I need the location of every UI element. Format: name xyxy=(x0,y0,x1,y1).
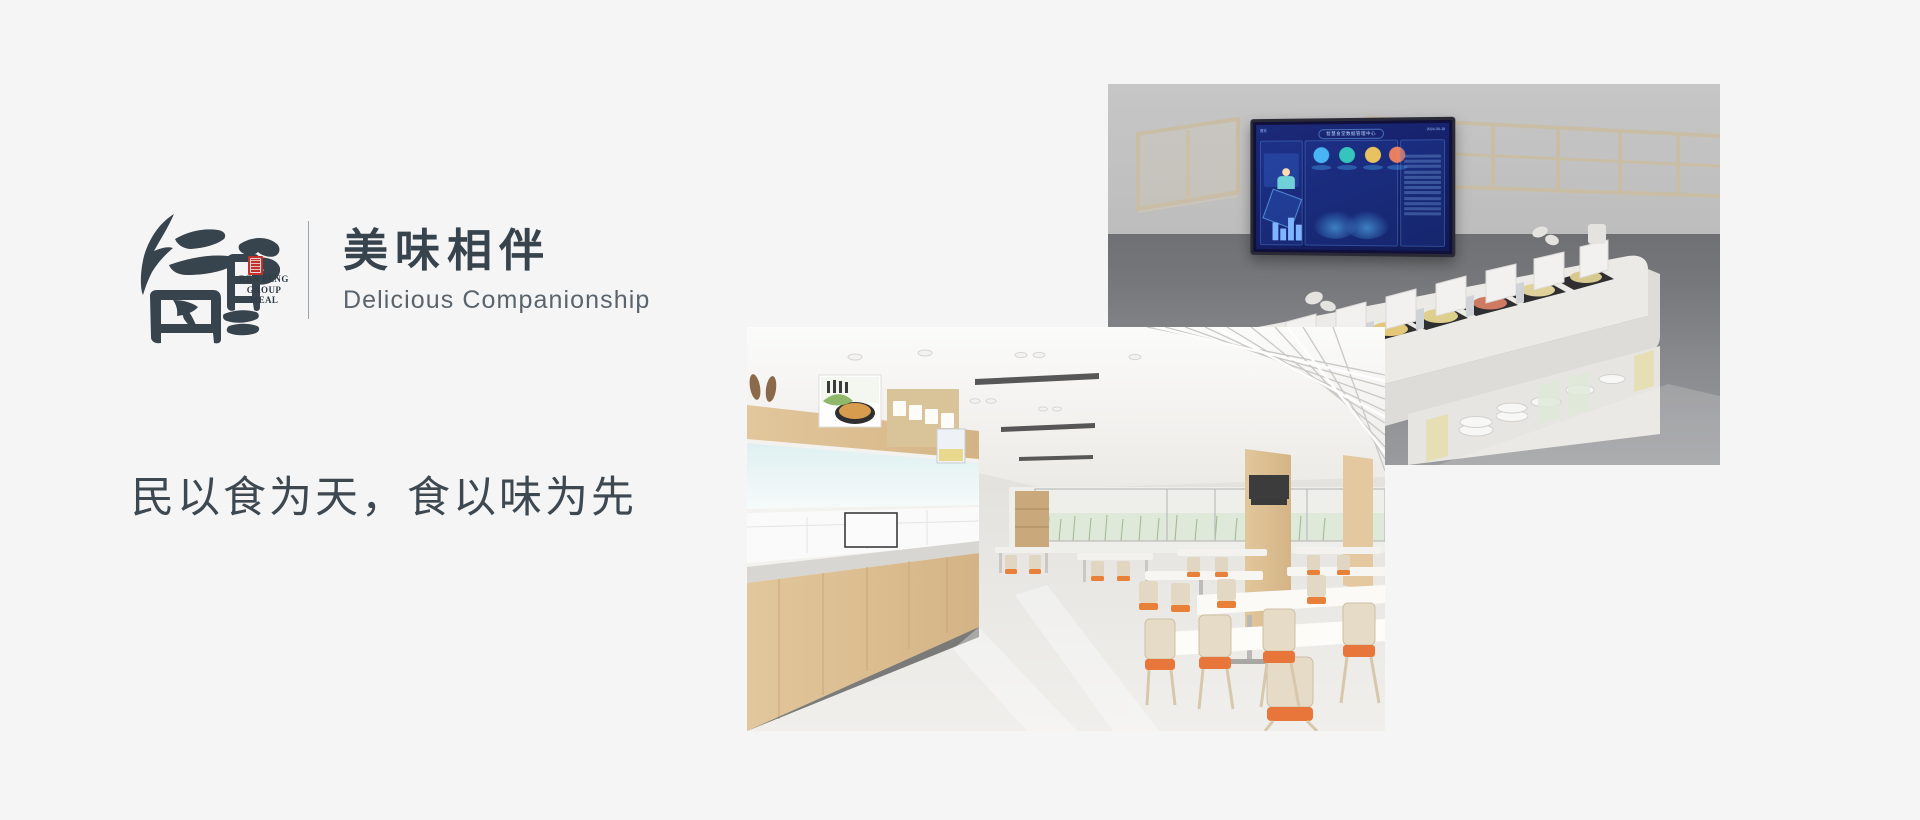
vertical-divider xyxy=(308,221,309,319)
brand-slogan-group: 美味相伴 Delicious Companionship xyxy=(343,226,650,314)
canteen-interior-image xyxy=(747,327,1385,731)
brand-row: REN PENG GROUP MEAL 美味相伴 Delicious Compa… xyxy=(128,196,888,344)
brand-logo: REN PENG GROUP MEAL xyxy=(128,196,280,344)
brand-seal-icon xyxy=(248,256,263,275)
slogan-cn: 美味相伴 xyxy=(343,226,650,276)
hero-banner: REN PENG GROUP MEAL 美味相伴 Delicious Compa… xyxy=(0,0,1920,820)
brand-block: REN PENG GROUP MEAL 美味相伴 Delicious Compa… xyxy=(128,196,888,344)
logo-en-line-1: REN PENG xyxy=(232,274,296,285)
logo-en-line-3: MEAL xyxy=(232,295,296,306)
brand-logo-en: REN PENG GROUP MEAL xyxy=(232,274,296,306)
logo-en-line-2: GROUP xyxy=(232,285,296,296)
slogan-en: Delicious Companionship xyxy=(343,287,650,315)
page-tagline: 民以食为天，食以味为先 xyxy=(131,463,637,525)
